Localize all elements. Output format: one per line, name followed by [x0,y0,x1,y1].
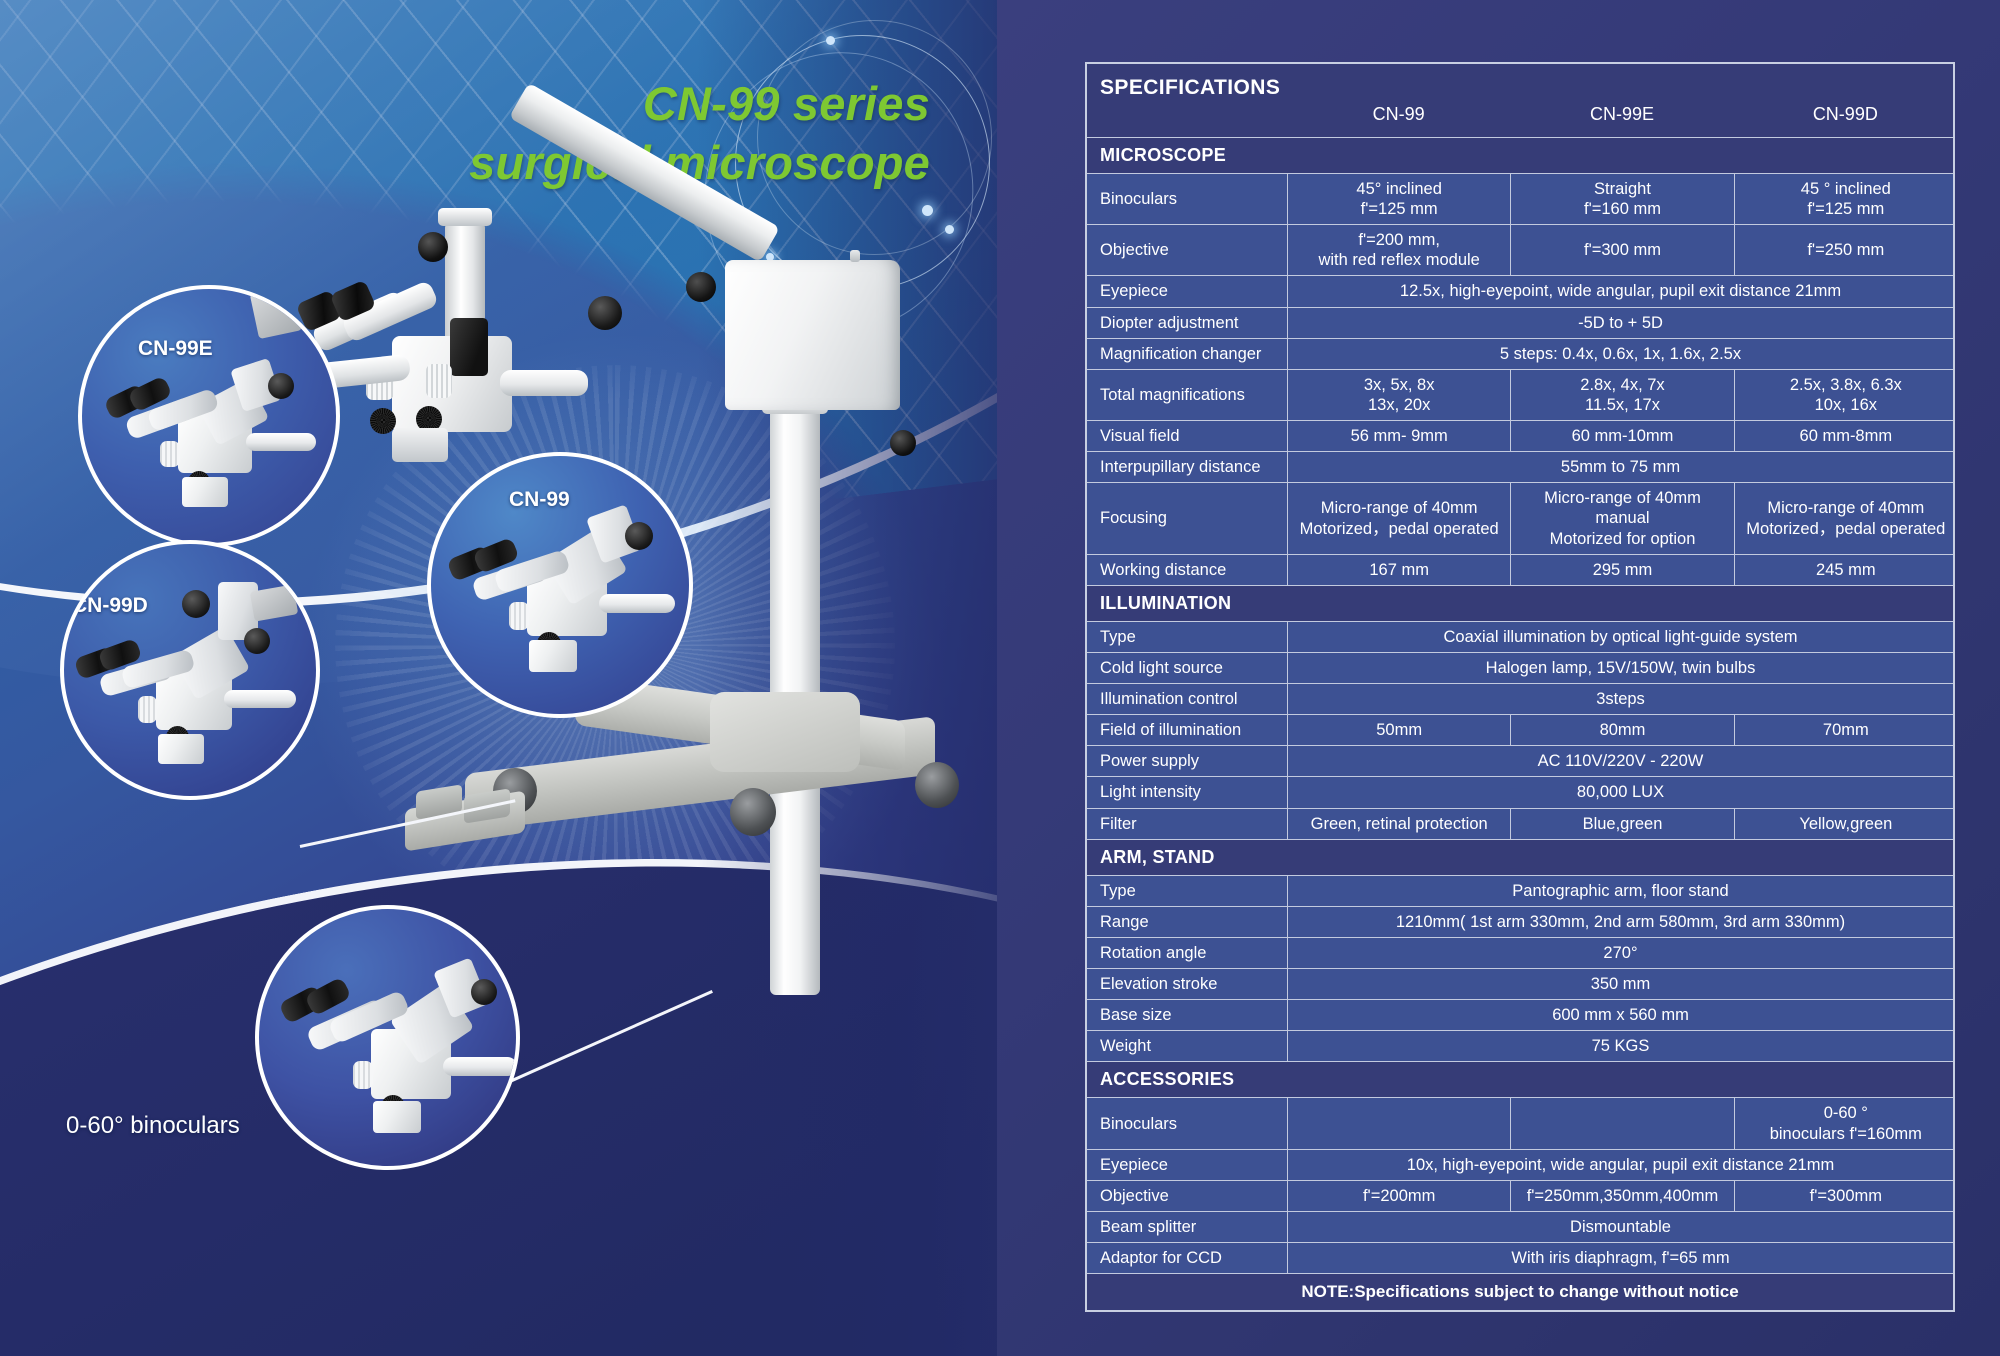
row-value-all: 5 steps: 0.4x, 0.6x, 1x, 1.6x, 2.5x [1287,339,1953,369]
row-value-3: 2.5x, 3.8x, 6.3x10x, 16x [1734,370,1957,420]
row-label: Diopter adjustment [1087,308,1287,338]
row-value-all: 12.5x, high-eyepoint, wide angular, pupi… [1287,276,1953,306]
row-value-2: Micro-range of 40mm manualMotorized for … [1510,483,1733,553]
row-label: Filter [1087,809,1287,839]
table-row: Base size600 mm x 560 mm [1087,999,1953,1030]
table-row: Range1210mm( 1st arm 330mm, 2nd arm 580m… [1087,906,1953,937]
mount-plate [250,285,303,339]
row-label: Binoculars [1087,1098,1287,1148]
row-label: Total magnifications [1087,370,1287,420]
row-label: Magnification changer [1087,339,1287,369]
stand-housing [725,260,900,410]
row-value-1: 50mm [1287,715,1510,745]
table-row: Power supplyAC 110V/220V - 220W [1087,745,1953,776]
row-value-1 [1287,1098,1510,1148]
row-label: Objective [1087,225,1287,275]
orbit-dot-icon [826,36,835,45]
callout-cn-99d: CN-99D [60,540,320,800]
row-value-1: 56 mm- 9mm [1287,421,1510,451]
table-row: Visual field56 mm- 9mm60 mm-10mm60 mm-8m… [1087,420,1953,451]
arm-brake-knob [686,272,716,302]
table-row: Rotation angle270° [1087,937,1953,968]
row-label: Objective [1087,1181,1287,1211]
row-value-2: Straightf'=160 mm [1510,174,1733,224]
table-row: Objectivef'=200mmf'=250mm,350mm,400mmf'=… [1087,1180,1953,1211]
brochure-page: CN-99 series surgical microscope [0,0,2000,1356]
row-value-all: 3steps [1287,684,1953,714]
page-title: CN-99 series surgical microscope [0,74,930,192]
table-row: Diopter adjustment-5D to + 5D [1087,307,1953,338]
row-label: Cold light source [1087,653,1287,683]
column-header-cn-99: CN-99 [1287,104,1510,126]
table-title: SPECIFICATIONS [1087,64,1953,104]
row-label: Light intensity [1087,777,1287,807]
housing-post [850,250,860,262]
caster-front [730,788,776,836]
row-value-all: 80,000 LUX [1287,777,1953,807]
callout-cn-99: CN-99 [427,452,693,718]
row-label: Power supply [1087,746,1287,776]
callout-label-cn-99d: CN-99D [72,594,148,618]
row-label: Focusing [1087,483,1287,553]
row-value-3: f'=250 mm [1734,225,1957,275]
arm-tension-knob [588,296,622,330]
housing-lock-knob [890,430,916,456]
specifications-panel: SPECIFICATIONS CN-99 CN-99E CN-99D MICRO… [997,0,2000,1356]
row-value-all: 1210mm( 1st arm 330mm, 2nd arm 580mm, 3r… [1287,907,1953,937]
row-label: Type [1087,876,1287,906]
row-value-all: 10x, high-eyepoint, wide angular, pupil … [1287,1150,1953,1180]
arm-lock-knob [244,628,270,654]
row-value-all: 270° [1287,938,1953,968]
table-row: Light intensity80,000 LUX [1087,776,1953,807]
table-row: Magnification changer5 steps: 0.4x, 0.6x… [1087,338,1953,369]
caster-right [915,762,959,808]
table-row: Cold light sourceHalogen lamp, 15V/150W,… [1087,652,1953,683]
row-value-all: 55mm to 75 mm [1287,452,1953,482]
table-row: Eyepiece12.5x, high-eyepoint, wide angul… [1087,275,1953,306]
row-label: Visual field [1087,421,1287,451]
table-row: Elevation stroke350 mm [1087,968,1953,999]
table-row: Illumination control3steps [1087,683,1953,714]
row-value-3: 60 mm-8mm [1734,421,1957,451]
table-row: Beam splitterDismountable [1087,1211,1953,1242]
callout-label-cn-99: CN-99 [509,488,570,512]
row-value-all: -5D to + 5D [1287,308,1953,338]
row-value-1: f'=200mm [1287,1181,1510,1211]
post-lock-knob [418,232,448,262]
row-label: Base size [1087,1000,1287,1030]
table-note: NOTE:Specifications subject to change wi… [1087,1274,1953,1310]
base-hub [710,692,860,772]
section-header-row: ILLUMINATION [1087,585,1953,621]
section-header-label: ACCESSORIES [1087,1062,1953,1097]
mount-lock-knob [182,590,210,618]
row-value-2: f'=300 mm [1510,225,1733,275]
row-label: Adaptor for CCD [1087,1243,1287,1273]
title-line-2: surgical microscope [0,133,930,192]
eyepiece-right [304,976,352,1016]
row-value-2: 60 mm-10mm [1510,421,1733,451]
specifications-table: SPECIFICATIONS CN-99 CN-99E CN-99D MICRO… [1085,62,1955,1312]
title-line-1: CN-99 series [643,77,930,130]
row-label: Type [1087,622,1287,652]
row-label: Weight [1087,1031,1287,1061]
section-header-label: ILLUMINATION [1087,586,1953,621]
table-row: TypePantographic arm, floor stand [1087,875,1953,906]
table-body: MICROSCOPEBinoculars45° inclinedf'=125 m… [1087,137,1953,1273]
magnification-ring [160,441,180,467]
row-value-all: Coaxial illumination by optical light-gu… [1287,622,1953,652]
table-note-row: NOTE:Specifications subject to change wi… [1087,1273,1953,1310]
row-value-3: 245 mm [1734,555,1957,585]
table-header-spacer [1087,104,1287,126]
row-label: Beam splitter [1087,1212,1287,1242]
row-value-2: f'=250mm,350mm,400mm [1510,1181,1733,1211]
row-value-1: f'=200 mm,with red reflex module [1287,225,1510,275]
section-header-row: ARM, STAND [1087,839,1953,875]
section-header-label: MICROSCOPE [1087,138,1953,173]
table-row: Field of illumination50mm80mm70mm [1087,714,1953,745]
row-label: Working distance [1087,555,1287,585]
row-value-3: Micro-range of 40mmMotorized，pedal opera… [1734,483,1957,553]
microscope-head-illustration [441,516,691,696]
magnification-ring-right [426,364,452,398]
row-value-all: 600 mm x 560 mm [1287,1000,1953,1030]
objective-housing [529,640,577,672]
illuminator-snout [500,370,588,396]
row-label: Eyepiece [1087,276,1287,306]
objective-housing [158,734,204,764]
table-row: TypeCoaxial illumination by optical ligh… [1087,621,1953,652]
magnification-ring [138,696,157,723]
section-header-row: MICROSCOPE [1087,137,1953,173]
illuminator-snout [443,1057,517,1076]
mount-lock-knob [268,373,294,399]
product-image-panel: CN-99 series surgical microscope [0,0,997,1356]
row-value-1: Green, retinal protection [1287,809,1510,839]
table-row: FocusingMicro-range of 40mmMotorized，ped… [1087,482,1953,553]
table-row: Binoculars45° inclinedf'=125 mmStraightf… [1087,173,1953,224]
callout-cn-99e: CN-99E [78,285,340,547]
table-row: Eyepiece10x, high-eyepoint, wide angular… [1087,1149,1953,1180]
table-row: FilterGreen, retinal protectionBlue,gree… [1087,808,1953,839]
table-row: Objectivef'=200 mm,with red reflex modul… [1087,224,1953,275]
table-row: Binoculars0-60 °binoculars f'=160mm [1087,1097,1953,1148]
table-row: Total magnifications3x, 5x, 8x13x, 20x2.… [1087,369,1953,420]
magnification-ring [353,1061,373,1089]
row-value-all: AC 110V/220V - 220W [1287,746,1953,776]
beam-splitter-block [450,318,488,376]
row-value-all: 350 mm [1287,969,1953,999]
row-value-all: 75 KGS [1287,1031,1953,1061]
row-value-3: f'=300mm [1734,1181,1957,1211]
microscope-head-illustration [96,359,336,529]
objective-housing [373,1101,421,1133]
row-value-2: 2.8x, 4x, 7x11.5x, 17x [1510,370,1733,420]
row-value-2: Blue,green [1510,809,1733,839]
magnification-ring [509,602,529,630]
mount-plate [250,584,299,621]
row-value-2: 80mm [1510,715,1733,745]
callout-label-cn-99e: CN-99E [138,337,213,361]
section-header-label: ARM, STAND [1087,840,1953,875]
row-label: Interpupillary distance [1087,452,1287,482]
row-label: Field of illumination [1087,715,1287,745]
table-row: Working distance167 mm295 mm245 mm [1087,554,1953,585]
row-value-3: Yellow,green [1734,809,1957,839]
table-row: Weight75 KGS [1087,1030,1953,1061]
row-label: Eyepiece [1087,1150,1287,1180]
row-value-all: Dismountable [1287,1212,1953,1242]
microscope-head-illustration [275,971,520,1157]
row-label: Binoculars [1087,174,1287,224]
illuminator-snout [246,433,316,451]
illuminator-snout [224,690,296,708]
row-value-3: 70mm [1734,715,1957,745]
illuminator-snout [599,594,675,613]
row-value-1: Micro-range of 40mmMotorized，pedal opera… [1287,483,1510,553]
row-value-3: 0-60 °binoculars f'=160mm [1734,1098,1957,1148]
row-value-all: Pantographic arm, floor stand [1287,876,1953,906]
mount-lock-knob [625,522,653,550]
row-value-2 [1510,1098,1733,1148]
table-header: SPECIFICATIONS CN-99 CN-99E CN-99D [1087,64,1953,137]
section-header-row: ACCESSORIES [1087,1061,1953,1097]
row-value-3: 45 ° inclinedf'=125 mm [1734,174,1957,224]
callout-label-binoculars-0-60: 0-60° binoculars [66,1112,240,1140]
row-value-1: 45° inclinedf'=125 mm [1287,174,1510,224]
row-label: Elevation stroke [1087,969,1287,999]
callout-binoculars-0-60 [255,905,520,1170]
table-row: Interpupillary distance55mm to 75 mm [1087,451,1953,482]
row-value-1: 167 mm [1287,555,1510,585]
microscope-head-illustration [72,612,318,788]
mount-lock-knob [471,979,497,1005]
row-label: Range [1087,907,1287,937]
table-row: Adaptor for CCDWith iris diaphragm, f'=6… [1087,1242,1953,1273]
row-value-all: With iris diaphragm, f'=65 mm [1287,1243,1953,1273]
row-label: Rotation angle [1087,938,1287,968]
row-value-2: 295 mm [1510,555,1733,585]
column-header-cn-99e: CN-99E [1510,104,1733,126]
row-value-all: Halogen lamp, 15V/150W, twin bulbs [1287,653,1953,683]
objective-lens-housing [392,428,448,462]
row-label: Illumination control [1087,684,1287,714]
post-cap [438,208,492,226]
column-header-cn-99d: CN-99D [1734,104,1957,126]
objective-housing [182,477,228,507]
row-value-1: 3x, 5x, 8x13x, 20x [1287,370,1510,420]
